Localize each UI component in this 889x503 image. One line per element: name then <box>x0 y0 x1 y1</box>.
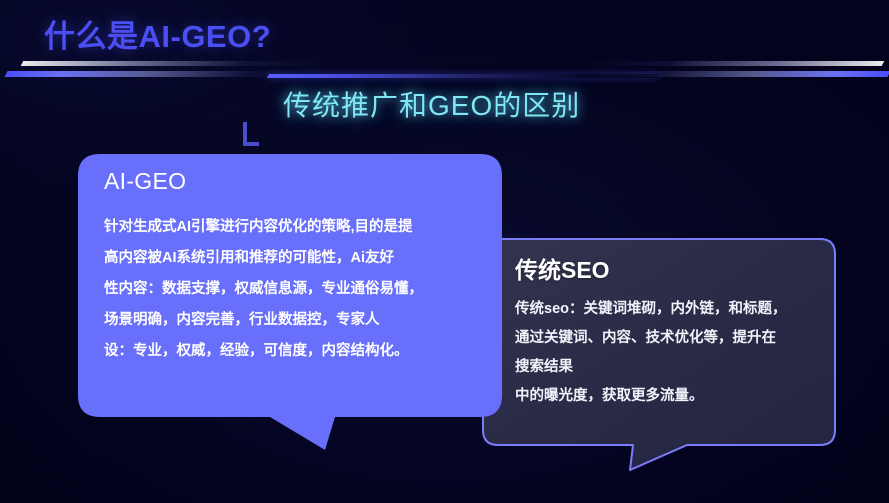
bubble-seo-line: 中的曝光度，获取更多流量。 <box>515 382 845 411</box>
bubble-geo-body: 针对生成式AI引擎进行内容优化的策略,目的是提 高内容被AI系统引用和推荐的可能… <box>104 212 476 367</box>
slide-canvas: 什么是AI-GEO? 传统推广和GEO的区别 传统SEO 传统seo：关键词堆砌… <box>0 0 889 503</box>
bubble-geo-line: 性内容：数据支撑，权威信息源，专业通俗易懂， <box>104 274 476 305</box>
bubble-geo-line: 针对生成式AI引擎进行内容优化的策略,目的是提 <box>104 212 476 243</box>
bubble-geo-line: 高内容被AI系统引用和推荐的可能性，Ai友好 <box>104 243 476 274</box>
header-rule-right-blue <box>587 71 889 77</box>
page-title: 什么是AI-GEO? <box>44 11 271 56</box>
bubble-geo-line: 场景明确，内容完善，行业数据控，专家人 <box>104 305 476 336</box>
bubble-geo-line: 设：专业，权威，经验，可信度，内容结构化。 <box>104 336 476 367</box>
bubble-geo-title: AI-GEO <box>104 168 186 195</box>
corner-bracket-decor <box>243 122 259 146</box>
bubble-seo-line: 传统seo：关键词堆砌，内外链，和标题， <box>515 295 845 324</box>
speech-bubble-geo: AI-GEO 针对生成式AI引擎进行内容优化的策略,目的是提 高内容被AI系统引… <box>78 154 518 454</box>
bubble-seo-title: 传统SEO <box>515 251 610 285</box>
subtitle-rule <box>267 74 659 78</box>
section-subtitle: 传统推广和GEO的区别 <box>283 84 580 124</box>
bubble-seo-line: 搜索结果 <box>515 353 845 382</box>
bubble-seo-line: 通过关键词、内容、技术优化等，提升在 <box>515 324 845 353</box>
header-rule-left-white <box>21 61 334 66</box>
bubble-seo-body: 传统seo：关键词堆砌，内外链，和标题， 通过关键词、内容、技术优化等，提升在 … <box>515 295 845 411</box>
header-rule-right-white <box>582 61 885 66</box>
header-rule-left-blue <box>4 71 317 77</box>
speech-bubble-seo: 传统SEO 传统seo：关键词堆砌，内外链，和标题， 通过关键词、内容、技术优化… <box>482 238 842 488</box>
